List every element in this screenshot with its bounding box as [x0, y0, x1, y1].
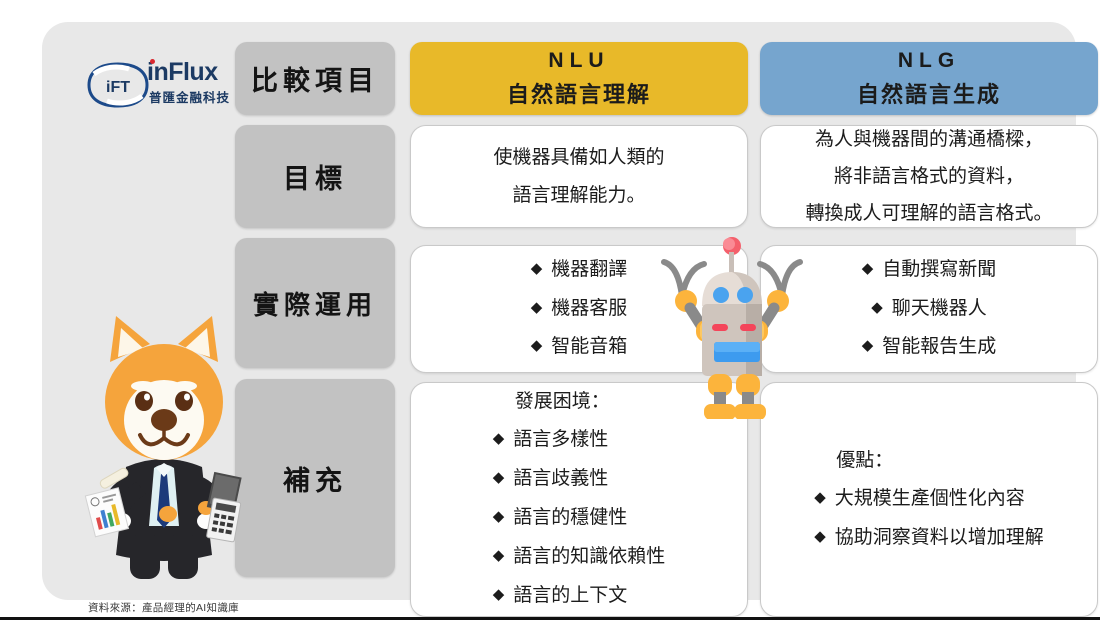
bullet-list: ◆自動撰寫新聞◆聊天機器人◆智能報告生成	[862, 251, 997, 368]
cell-text-line: 轉換成人可理解的語言格式。	[761, 195, 1097, 232]
row-label-goal: 目標	[235, 125, 395, 228]
cell-text-line: 將非語言格式的資料，	[761, 158, 1097, 195]
bullet-item-label: 智能音箱	[551, 336, 627, 357]
bullet-item: ◆語言的上下文	[493, 577, 628, 616]
column-header-nlg-en: NLG	[898, 49, 960, 73]
column-header-nlu-zh: 自然語言理解	[507, 77, 651, 109]
bullet-item: ◆語言的穩健性	[493, 499, 628, 538]
diamond-bullet-icon: ◆	[531, 337, 543, 354]
shiba-mascot-illustration	[64, 302, 264, 602]
bullet-item-label: 語言的上下文	[513, 585, 627, 606]
bullet-item-label: 機器翻譯	[551, 259, 627, 280]
bullet-item-label: 自動撰寫新聞	[882, 259, 996, 280]
bullet-item-label: 智能報告生成	[882, 336, 996, 357]
cell-goal-nlg: 為人與機器間的溝通橋樑，將非語言格式的資料，轉換成人可理解的語言格式。	[760, 125, 1098, 228]
bullet-item-label: 機器客服	[551, 298, 627, 319]
infographic-canvas: iFT inFlux 普匯金融科技 比較項目 NLU 自然語言理解 NLG 自然…	[0, 0, 1100, 620]
diamond-bullet-icon: ◆	[531, 260, 543, 277]
logo-accent-dot	[150, 59, 155, 64]
column-header-nlu: NLU 自然語言理解	[410, 42, 748, 115]
diamond-bullet-icon: ◆	[862, 260, 874, 277]
logo-wordmark: inFlux	[147, 58, 218, 87]
cell-text-line: 語言理解能力。	[411, 177, 747, 214]
bullet-item: ◆智能報告生成	[862, 328, 997, 367]
column-header-nlg: NLG 自然語言生成	[760, 42, 1098, 115]
bullet-list: 發展困境：◆語言多樣性◆語言歧義性◆語言的穩健性◆語言的知識依賴性◆語言的上下文	[493, 383, 666, 616]
diamond-bullet-icon: ◆	[493, 547, 505, 564]
source-note: 資料來源：產品經理的AI知識庫	[88, 600, 239, 615]
bullet-item: ◆機器客服	[531, 290, 628, 329]
bullet-list: 優點：◆大規模生產個性化內容◆協助洞察資料以增加理解	[814, 442, 1044, 558]
bullet-list-heading: 發展困境：	[515, 383, 610, 421]
diamond-bullet-icon: ◆	[531, 299, 543, 316]
bullet-item: ◆聊天機器人	[871, 290, 987, 329]
diamond-bullet-icon: ◆	[814, 528, 826, 545]
diamond-bullet-icon: ◆	[493, 430, 505, 447]
bullet-item: ◆大規模生產個性化內容	[814, 480, 1025, 519]
diamond-bullet-icon: ◆	[862, 337, 874, 354]
bullet-list-heading: 優點：	[836, 442, 893, 480]
bullet-item: ◆協助洞察資料以增加理解	[814, 519, 1044, 558]
bullet-item-label: 語言的知識依賴性	[513, 546, 665, 567]
cell-text-line: 為人與機器間的溝通橋樑，	[761, 121, 1097, 158]
bullet-item: ◆語言歧義性	[493, 460, 609, 499]
mascot-head	[105, 316, 223, 460]
cell-goal-nlu: 使機器具備如人類的語言理解能力。	[410, 125, 748, 228]
column-header-nlg-zh: 自然語言生成	[857, 77, 1001, 109]
bullet-item-label: 協助洞察資料以增加理解	[835, 527, 1044, 548]
bullet-item: ◆語言的知識依賴性	[493, 538, 666, 577]
diamond-bullet-icon: ◆	[871, 299, 883, 316]
bullet-item: ◆語言多樣性	[493, 421, 609, 460]
bullet-item-label: 聊天機器人	[892, 298, 987, 319]
bullet-item-label: 語言的穩健性	[513, 507, 627, 528]
bullet-item-label: 語言歧義性	[513, 468, 608, 489]
bullet-item-label: 大規模生產個性化內容	[835, 488, 1025, 509]
bullet-item: ◆機器翻譯	[531, 251, 628, 290]
cell-text-line: 使機器具備如人類的	[411, 139, 747, 176]
bullet-item-label: 語言多樣性	[513, 429, 608, 450]
diamond-bullet-icon: ◆	[814, 489, 826, 506]
header-corner-label: 比較項目	[235, 42, 395, 115]
column-header-nlu-en: NLU	[548, 49, 609, 73]
comparison-panel: iFT inFlux 普匯金融科技 比較項目 NLU 自然語言理解 NLG 自然…	[42, 22, 1076, 600]
diamond-bullet-icon: ◆	[493, 586, 505, 603]
ift-swoosh-icon: iFT	[87, 61, 149, 109]
bullet-list: ◆機器翻譯◆機器客服◆智能音箱	[531, 251, 628, 368]
bullet-item: ◆智能音箱	[531, 328, 628, 367]
diamond-bullet-icon: ◆	[493, 508, 505, 525]
logo-subtitle: 普匯金融科技	[149, 87, 230, 106]
svg-text:iFT: iFT	[106, 79, 130, 96]
influx-logo: iFT inFlux 普匯金融科技	[87, 57, 230, 113]
robot-illustration	[642, 234, 822, 419]
bullet-item: ◆自動撰寫新聞	[862, 251, 997, 290]
diamond-bullet-icon: ◆	[493, 469, 505, 486]
